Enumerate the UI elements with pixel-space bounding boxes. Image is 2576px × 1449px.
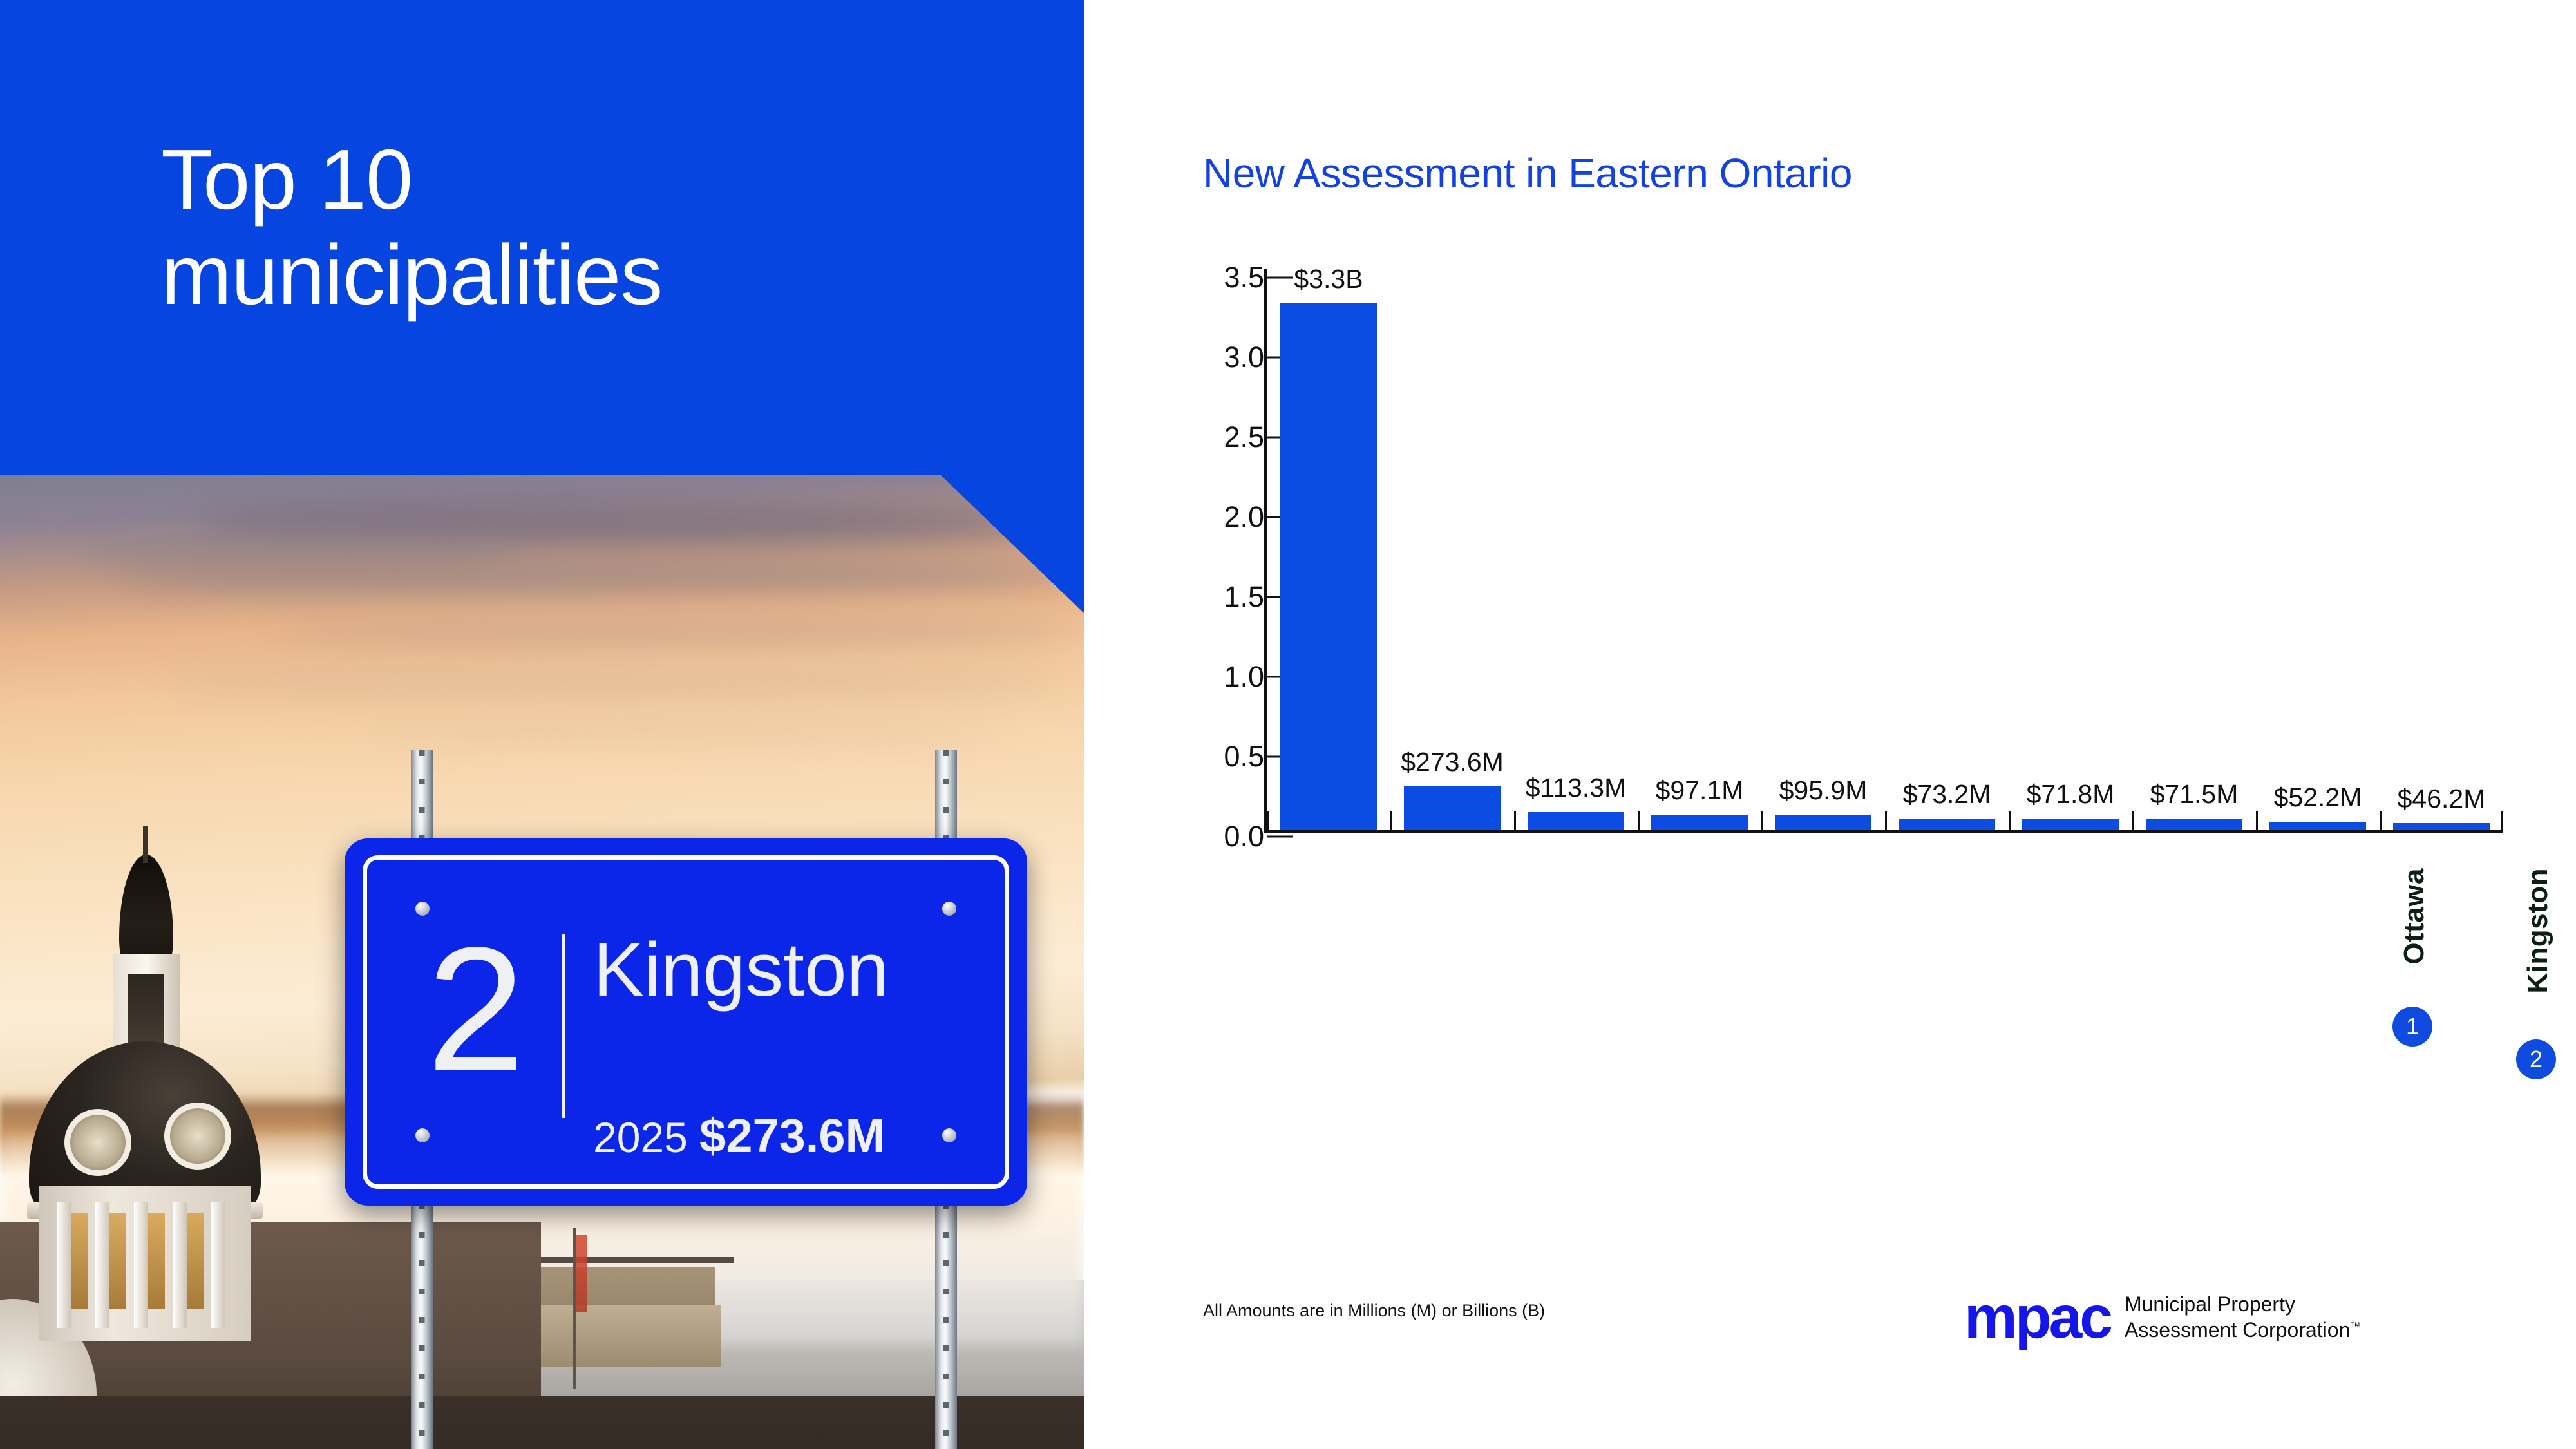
highway-sign-card: 2 Kingston 2025 $273.6M: [345, 838, 1027, 1206]
y-tick-label: 0.5: [1203, 740, 1264, 773]
x-tick-mark: [1761, 811, 1763, 833]
rank-badge-2: 2: [2516, 1039, 2556, 1079]
y-tick-label: 3.5: [1203, 261, 1264, 294]
screw-icon: [942, 902, 956, 916]
bar-value-label: $71.5M: [2150, 779, 2239, 810]
bar[interactable]: [1899, 819, 1995, 830]
cloud-band: [161, 668, 1063, 695]
x-tick-mark: [1390, 811, 1392, 833]
y-tick-label: 2.5: [1203, 421, 1264, 454]
bar-group[interactable]: $46.2M: [2380, 271, 2503, 830]
tower-finial: [143, 826, 148, 863]
bar-value-label: $73.2M: [1903, 779, 1991, 810]
bar-group[interactable]: $71.5M: [2132, 271, 2256, 830]
x-tick-mark: [2380, 811, 2382, 833]
cloud-band: [116, 558, 1082, 596]
mpac-tagline-line-2: Assessment Corporation™: [2125, 1317, 2360, 1343]
sign-stat: 2025 $273.6M: [593, 1112, 885, 1160]
bar-group[interactable]: $113.3M: [1514, 271, 1638, 830]
sign-rank-number: 2: [399, 921, 553, 1098]
x-axis: [1264, 830, 2501, 833]
slide-canvas: Top 10 municipalities 2 Kingston 2025 $2…: [0, 0, 2576, 1449]
bar[interactable]: [1775, 815, 1871, 830]
bar-series: $3.3B$273.6M$113.3M$97.1M$95.9M$73.2M$71…: [1267, 271, 2503, 830]
bar-value-label: $3.3B: [1294, 264, 1363, 294]
tower-columns: [57, 1202, 234, 1328]
sign-divider: [562, 934, 565, 1118]
bar-chart: 0.00.51.01.52.02.53.03.5 $3.3B$273.6M$11…: [1203, 245, 2491, 863]
bar[interactable]: [1280, 303, 1377, 830]
clock-face: [64, 1109, 131, 1176]
y-tick-mark: [1267, 836, 1293, 838]
y-tick-label: 2.0: [1203, 500, 1264, 534]
trademark-icon: ™: [2350, 1321, 2360, 1332]
mpac-tagline: Municipal Property Assessment Corporatio…: [2125, 1291, 2360, 1343]
x-tick-mark: [1885, 811, 1887, 833]
x-tick-mark: [1638, 811, 1640, 833]
bar-group[interactable]: $3.3B: [1267, 271, 1390, 830]
clock-face: [164, 1103, 231, 1170]
bar-group[interactable]: $52.2M: [2256, 271, 2380, 830]
category-label-ottawa: Ottawa: [2398, 868, 2430, 965]
bar[interactable]: [1404, 786, 1501, 830]
page-title-line-2: municipalities: [161, 227, 998, 323]
y-tick-label: 3.0: [1203, 341, 1264, 374]
bar[interactable]: [2269, 822, 2366, 830]
screw-icon: [942, 1128, 956, 1142]
mpac-tagline-line-1: Municipal Property: [2125, 1291, 2360, 1317]
x-tick-mark: [1267, 811, 1269, 833]
rank-badge-1: 1: [2392, 1007, 2432, 1046]
sign-year: 2025: [593, 1113, 688, 1161]
y-tick-label: 1.5: [1203, 580, 1264, 614]
bar-group[interactable]: $73.2M: [1885, 271, 2009, 830]
bar[interactable]: [2146, 819, 2242, 830]
y-tick-label: 1.0: [1203, 660, 1264, 694]
page-title: Top 10 municipalities: [161, 132, 998, 323]
page-title-line-1: Top 10: [161, 132, 998, 227]
bar-group[interactable]: $95.9M: [1761, 271, 1885, 830]
bar[interactable]: [1651, 815, 1748, 830]
bar-value-label: $113.3M: [1526, 773, 1627, 803]
cloud-band: [270, 616, 1075, 647]
bar[interactable]: [2393, 823, 2490, 830]
bar-group[interactable]: $71.8M: [2009, 271, 2132, 830]
bar[interactable]: [2022, 819, 2119, 830]
chart-title: New Assessment in Eastern Ontario: [1203, 149, 1852, 197]
foreground-rooftops: [0, 1396, 1084, 1449]
mpac-wordmark: mpac: [1964, 1292, 2110, 1343]
mpac-logo: mpac Municipal Property Assessment Corpo…: [1964, 1291, 2360, 1343]
x-tick-mark: [1514, 811, 1516, 833]
bar-value-label: $46.2M: [2398, 784, 2486, 814]
cloud-band: [361, 719, 1005, 741]
y-tick-label: 0.0: [1203, 820, 1264, 853]
left-panel: Top 10 municipalities 2 Kingston 2025 $2…: [0, 0, 1084, 1449]
canada-flag: [576, 1235, 587, 1312]
bar-group[interactable]: $97.1M: [1638, 271, 1761, 830]
category-label-kingston: Kingston: [2522, 868, 2554, 994]
bar-value-label: $71.8M: [2027, 779, 2115, 810]
lantern-window: [128, 974, 164, 1046]
x-tick-mark: [2009, 811, 2011, 833]
bar-value-label: $97.1M: [1656, 775, 1744, 806]
x-tick-mark: [2132, 811, 2134, 833]
sign-city-name: Kingston: [593, 932, 889, 1008]
chart-panel: New Assessment in Eastern Ontario 0.00.5…: [1084, 0, 2576, 1449]
x-tick-mark: [2501, 811, 2503, 833]
x-tick-mark: [2256, 811, 2258, 833]
footnote: All Amounts are in Millions (M) or Billi…: [1203, 1301, 1545, 1321]
bar-value-label: $52.2M: [2274, 782, 2362, 813]
bar-value-label: $273.6M: [1401, 747, 1504, 777]
bar[interactable]: [1528, 812, 1624, 830]
screw-icon: [415, 1128, 430, 1142]
bar-value-label: $95.9M: [1779, 775, 1868, 806]
bar-group[interactable]: $273.6M: [1390, 271, 1514, 830]
sign-amount: $273.6M: [699, 1109, 885, 1162]
